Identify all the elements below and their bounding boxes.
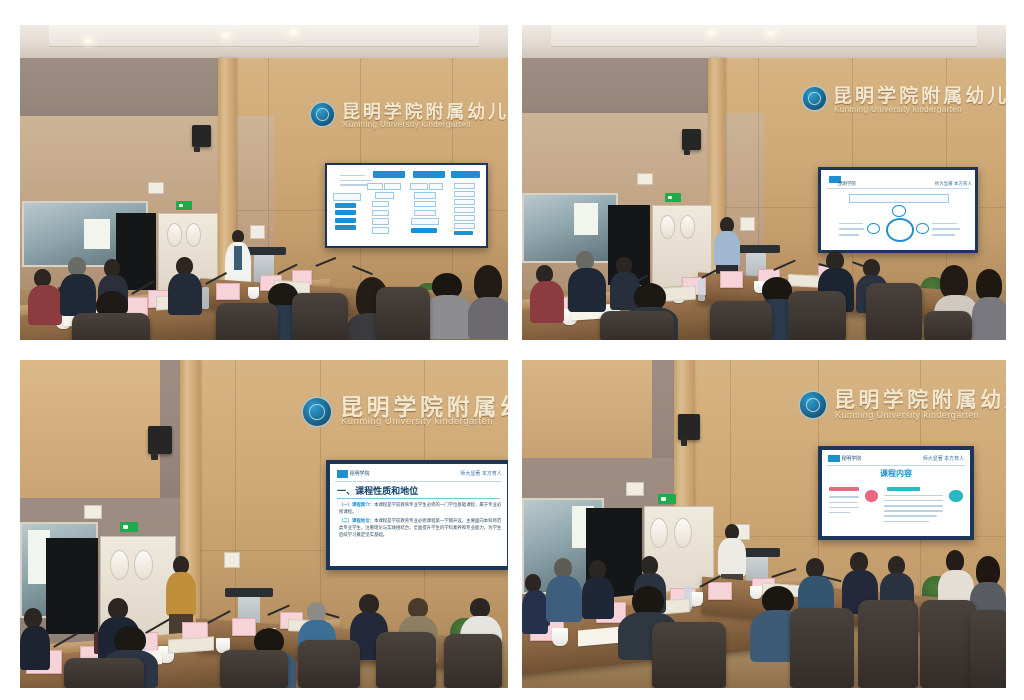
podium-top (736, 245, 780, 253)
office-chair (444, 634, 502, 688)
porthole-window (650, 518, 668, 548)
wood-wall-left (20, 360, 160, 504)
office-chair (292, 293, 348, 340)
flow-node (335, 203, 356, 208)
downlight-icon (290, 30, 297, 34)
slide-flowchart (327, 165, 486, 246)
meeting-room-scene: 昆明学院附属幼儿园 Kunming University kindergarte… (522, 25, 1006, 340)
photo-collage: 昆明学院附属幼儿园 Kunming University kindergarte… (0, 0, 1024, 700)
wall-switch-plate (84, 505, 102, 519)
porthole-window (660, 215, 675, 239)
attendee (546, 558, 582, 620)
office-chair (376, 632, 436, 688)
porthole-window (134, 550, 153, 580)
office-chair (924, 311, 972, 340)
slide-section-label: （一）课程简介： (339, 502, 374, 507)
wall-switch-plate (740, 217, 755, 231)
wall-switch-plate (637, 173, 653, 185)
slide-accent-mark (828, 455, 840, 462)
slide-center-circle (886, 218, 915, 242)
office-chair (858, 600, 918, 688)
wall-switch-plate (250, 225, 265, 239)
attendee (568, 251, 606, 309)
attendee-name-card (720, 271, 743, 288)
ceiling-inner (551, 25, 977, 47)
emergency-exit-icon (120, 522, 138, 532)
podium-top (225, 588, 273, 597)
slide-section-label: （二）课程地位： (339, 518, 374, 523)
emergency-exit-icon (176, 201, 192, 210)
office-chair (788, 291, 846, 340)
attendee (168, 257, 202, 313)
flow-col-header (413, 171, 445, 177)
wall-switch-plate (626, 482, 644, 496)
projector-screen-frame: 昆明学院 师大显著 本方育人 一、课程性质和地位 （一）课程简介：本课程是学前教… (326, 460, 508, 570)
photo-panel-top-right[interactable]: 昆明学院附属幼儿园 Kunming University kindergarte… (522, 25, 1006, 340)
slide-three-column: 昆明学院 师大显著 本方育人 课程内容 (822, 450, 970, 536)
tea-cup (552, 628, 568, 646)
slide-node-circle (916, 223, 929, 234)
office-chair (376, 287, 430, 340)
attendee-name-card (708, 582, 732, 600)
meeting-room-scene: 昆明学院附属幼儿园 Kunming University kindergarte… (20, 360, 508, 688)
projector-screen (327, 165, 486, 246)
office-chair (652, 622, 726, 688)
porthole-window (674, 518, 692, 548)
attendee-name-card (216, 283, 240, 300)
attendee-foreground (424, 273, 472, 339)
flow-node (335, 218, 356, 223)
water-bottle (202, 287, 209, 309)
school-logo-icon (303, 398, 331, 426)
office-chair (920, 600, 976, 688)
wall-sign-en: Kunming University kindergarten (835, 410, 979, 420)
porthole-window (186, 223, 201, 247)
office-chair (600, 311, 674, 340)
slide-brand: 昆明学院 (841, 455, 861, 462)
flow-node (335, 210, 356, 215)
water-bottle (698, 279, 705, 301)
step-dot (865, 490, 878, 501)
wall-sign-en: Kunming University kindergarten (343, 120, 471, 129)
projector-screen: 昆明学院 师大显著 本方育人 一、课程性质和地位 （一）课程简介：本课程是学前教… (330, 464, 507, 566)
ceiling (522, 25, 1006, 60)
photo-panel-bottom-right[interactable]: 昆明学院附属幼儿园 Kunming University kindergarte… (522, 360, 1006, 688)
slide-brand: 昆明学院 (349, 470, 369, 477)
attendee (530, 265, 564, 321)
posted-notice (574, 203, 598, 235)
photo-panel-top-left[interactable]: 昆明学院附属幼儿园 Kunming University kindergarte… (20, 25, 508, 340)
slide-brand-right: 师大显著 本方育人 (923, 455, 964, 462)
downlight-icon (222, 33, 229, 37)
photo-panel-bottom-left[interactable]: 昆明学院附属幼儿园 Kunming University kindergarte… (20, 360, 508, 688)
projector-screen-frame (325, 163, 488, 248)
slide-node-circle (892, 205, 906, 217)
ceiling-inner (49, 25, 478, 47)
office-chair (64, 658, 144, 688)
office-chair (216, 303, 278, 340)
downlight-icon (708, 31, 715, 35)
projector-screen: 昆明学院 师大显著 本方育人 (821, 170, 975, 250)
downlight-icon (768, 31, 775, 35)
office-chair (790, 608, 854, 688)
slide-top-banner (849, 194, 950, 203)
wall-speaker-icon (148, 426, 172, 454)
office-chair (866, 283, 922, 340)
attendee (20, 608, 50, 668)
projector-screen-frame: 昆明学院 师大显著 本方育人 课程内容 (818, 446, 974, 540)
wood-seam (235, 360, 236, 650)
step-dot (949, 490, 962, 501)
emergency-exit-icon (665, 193, 681, 202)
office-chair (72, 313, 150, 340)
office-chair (710, 301, 772, 340)
attendee (28, 269, 62, 323)
flow-col-header (451, 171, 480, 177)
school-logo-icon (311, 103, 334, 126)
school-logo-icon (800, 392, 826, 418)
slide-concept-circle: 昆明学院 师大显著 本方育人 (821, 170, 975, 250)
attendee (582, 560, 614, 616)
projector-screen-frame: 昆明学院 师大显著 本方育人 (818, 167, 978, 253)
column-header-badge (829, 487, 859, 491)
slide-title: 课程内容 (822, 468, 970, 479)
porthole-window (167, 223, 182, 247)
wall-switch-plate (148, 182, 164, 194)
wall-speaker-icon (678, 414, 700, 440)
porthole-window (680, 215, 695, 239)
attendee-foreground (972, 269, 1006, 339)
emergency-exit-icon (658, 494, 676, 504)
flow-node (335, 225, 356, 230)
flow-node (333, 193, 360, 201)
office-chair (220, 650, 288, 688)
ceiling (20, 25, 508, 60)
wall-sign-en: Kunming University kindergarten (834, 105, 962, 114)
attendee (522, 574, 548, 632)
slide-brand-right: 师大显著 本方育人 (935, 181, 972, 187)
attendee-foreground (468, 265, 508, 339)
wood-wall-left (522, 360, 652, 465)
wall-sign-cn: 昆明学院附属幼儿园 (833, 81, 1006, 108)
slide-accent-mark (337, 470, 348, 478)
flow-col-header (373, 171, 405, 177)
slide-brand-right: 师大显著 本方育人 (460, 470, 501, 477)
office-chair (970, 610, 1006, 688)
porthole-window (110, 550, 129, 580)
wall-speaker-icon (192, 125, 211, 147)
meeting-room-scene: 昆明学院附属幼儿园 Kunming University kindergarte… (20, 25, 508, 340)
school-logo-icon (803, 87, 826, 110)
wall-switch-plate (224, 552, 240, 568)
projector-screen: 昆明学院 师大显著 本方育人 课程内容 (822, 450, 970, 536)
posted-notice (84, 219, 110, 249)
slide-text: 昆明学院 师大显著 本方育人 一、课程性质和地位 （一）课程简介：本课程是学前教… (330, 464, 507, 566)
meeting-room-scene: 昆明学院附属幼儿园 Kunming University kindergarte… (522, 360, 1006, 688)
wall-sign-en: Kunming University kindergarten (341, 416, 508, 427)
column-header-badge (887, 487, 920, 491)
office-chair (298, 640, 360, 688)
slide-title: 一、课程性质和地位 (337, 484, 418, 497)
slide-brand: 昆明学院 (838, 181, 856, 187)
downlight-icon (85, 39, 92, 43)
slide-node-circle (867, 223, 880, 234)
doorway (46, 538, 98, 634)
wall-speaker-icon (682, 129, 701, 150)
